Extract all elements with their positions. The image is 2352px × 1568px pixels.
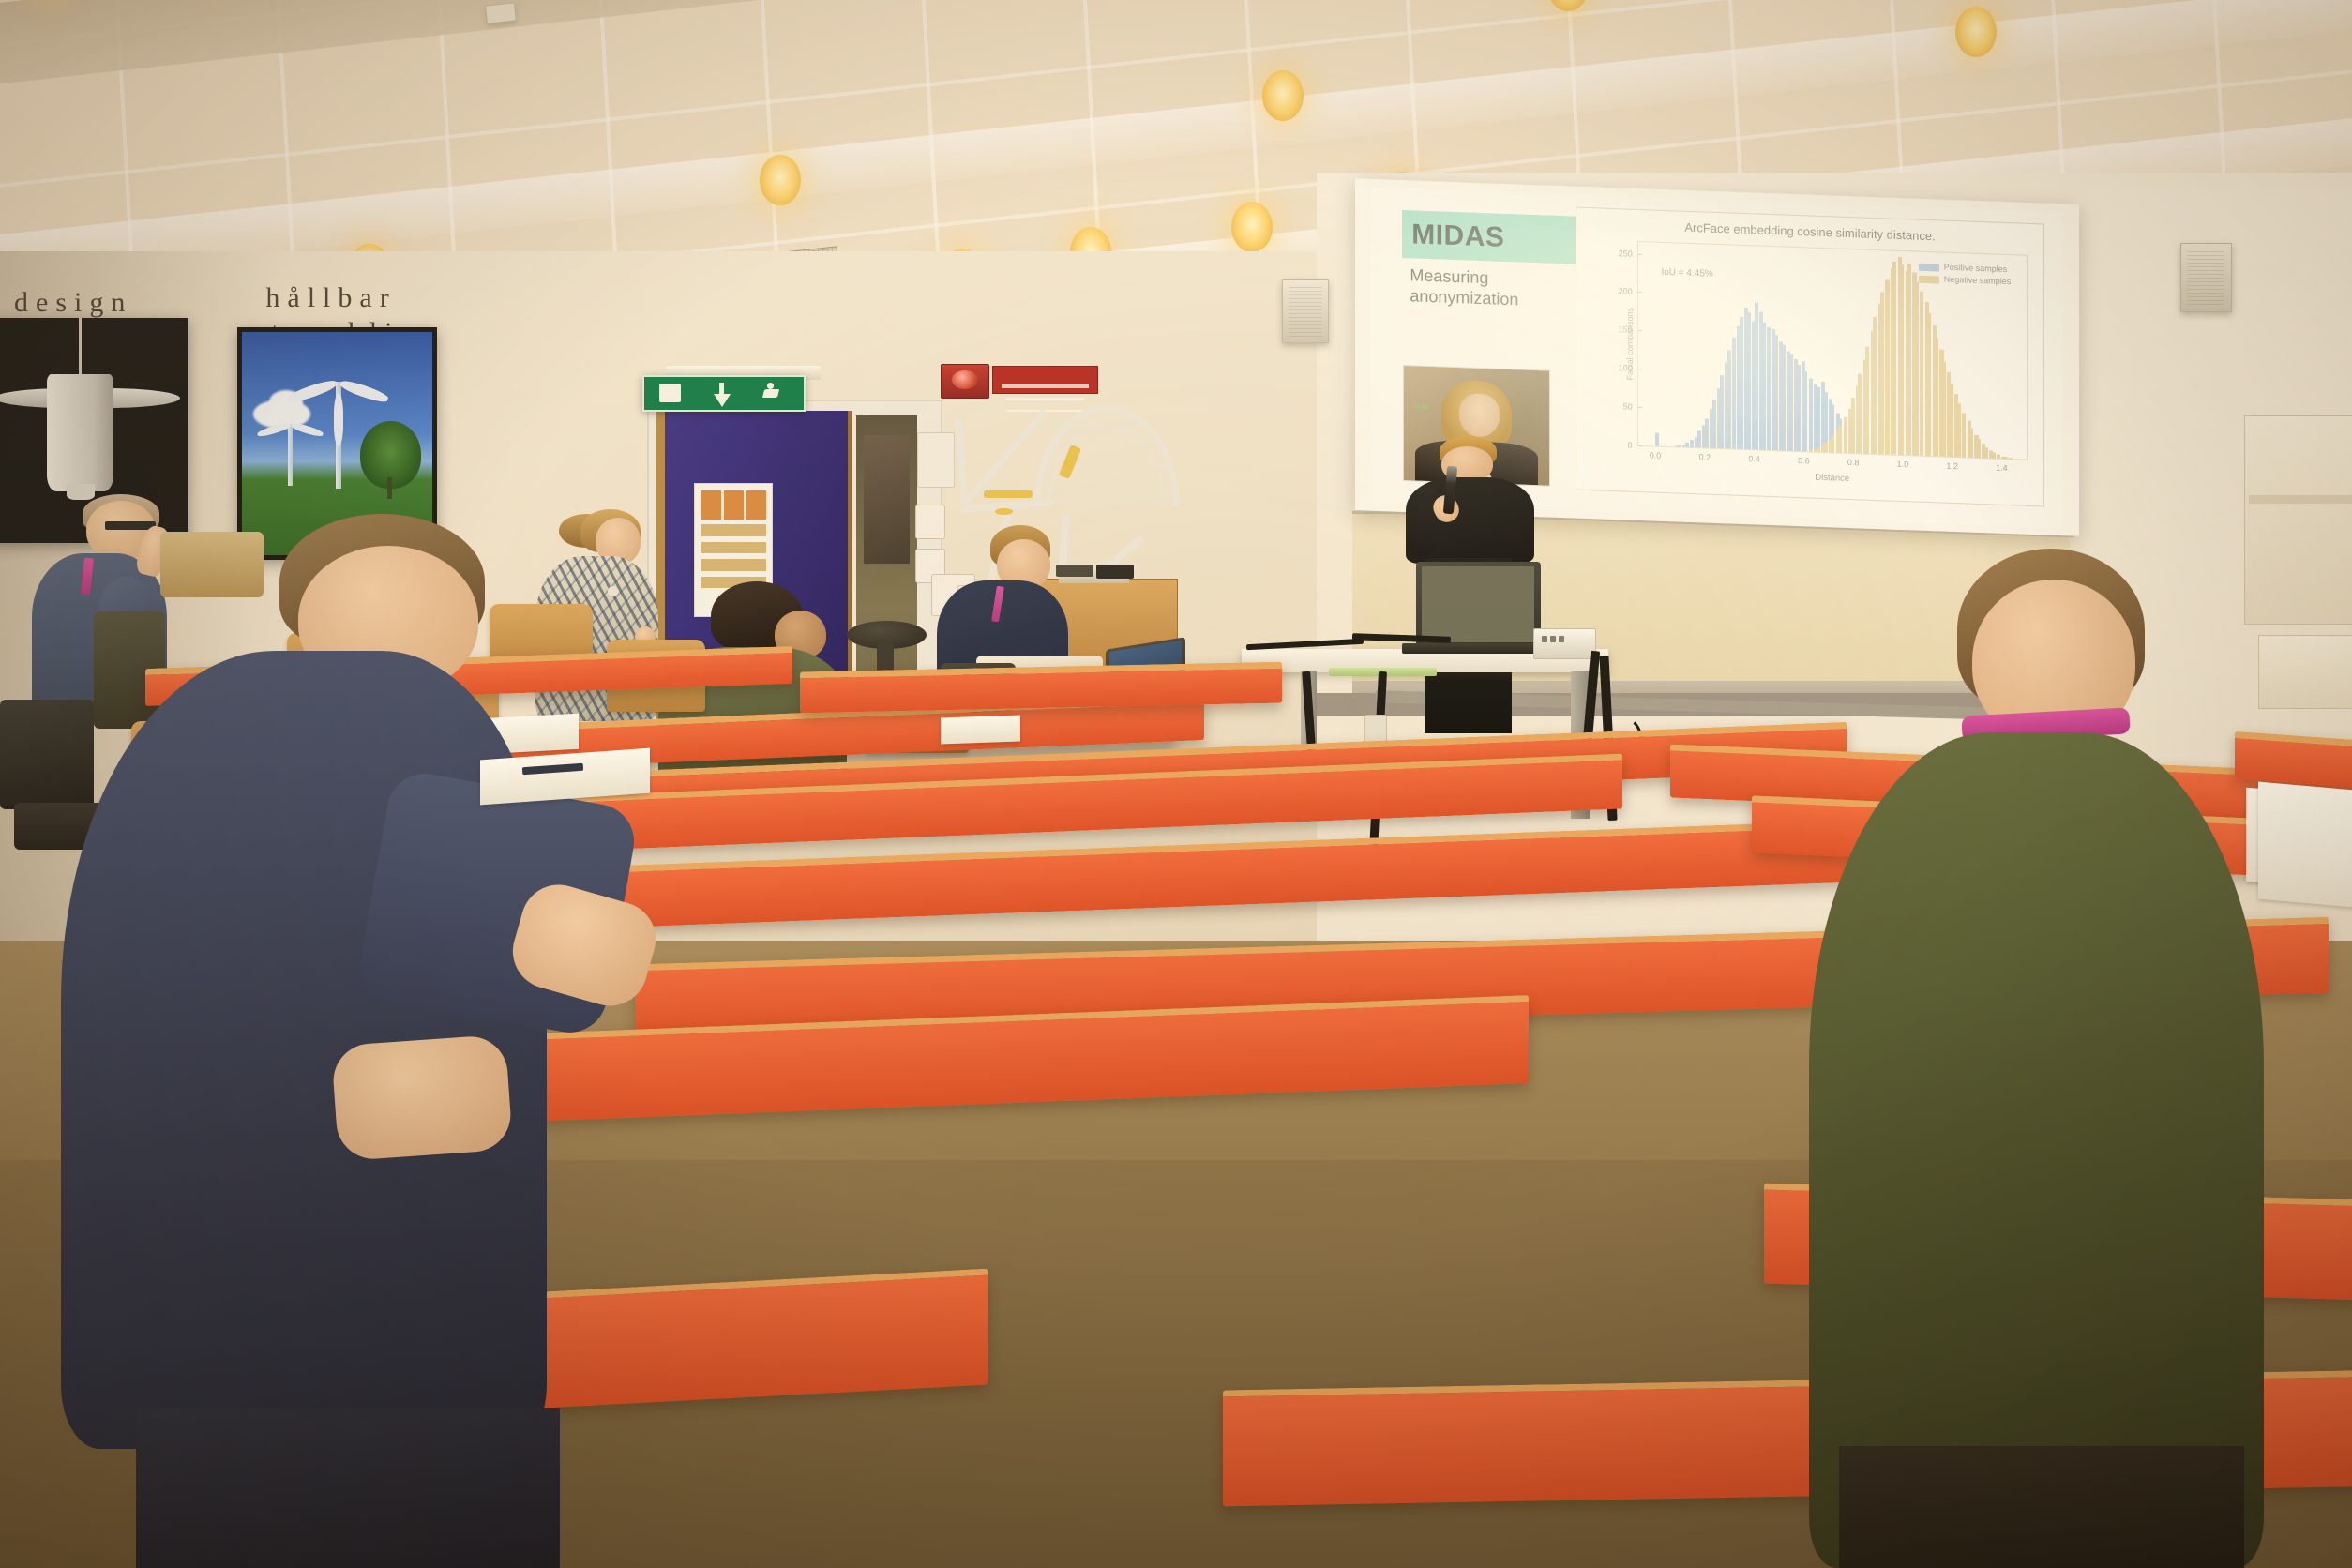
chart-bar — [1816, 447, 1819, 452]
chart-bar — [1831, 435, 1834, 452]
fire-alarm-label — [992, 366, 1097, 394]
chart-bar — [1677, 445, 1681, 447]
chart-annotation-iou: IoU = 4.45% — [1661, 267, 1712, 279]
running-man-icon — [762, 383, 788, 404]
chart-bar — [1773, 335, 1777, 450]
chart-bar — [2009, 458, 2013, 459]
chart-x-tick: 1.2 — [1946, 457, 1958, 471]
chart-bar — [1731, 338, 1735, 449]
slide-title-band: MIDAS — [1402, 210, 1589, 264]
person-torso-fleece — [1809, 732, 2264, 1568]
chart-bar — [1865, 346, 1869, 454]
ceiling-sensor — [485, 3, 517, 24]
chart-bar — [1984, 447, 1988, 459]
lecture-hall-photo: design hållbar utveckling — [0, 0, 2352, 1568]
ceiling-downlight — [1262, 70, 1304, 121]
chart-bar — [1697, 430, 1701, 447]
chart-bar — [1838, 425, 1842, 453]
chart-bar — [1962, 413, 1966, 458]
paper-sheet-right — [2258, 782, 2352, 910]
chart-plot-area: Positive samples Negative samples IoU = … — [1636, 241, 2027, 460]
chart-bar — [1991, 453, 1995, 459]
wall-panel — [917, 432, 955, 488]
chart-bar — [1823, 443, 1827, 452]
chart-bar — [1843, 417, 1847, 453]
face-detection-score: 0.98 — [1415, 404, 1428, 411]
audience-person-foreground-left — [23, 514, 647, 1564]
chart-bar — [1950, 383, 1953, 457]
chart-bar — [1873, 317, 1877, 454]
chart-bar — [1907, 264, 1911, 456]
chart-y-tick: 0 — [1627, 441, 1637, 450]
chart-bar — [1920, 292, 1923, 456]
turbine-blade-small — [291, 421, 324, 438]
chart-bar — [1850, 398, 1854, 453]
chart-y-tick: 100 — [1618, 363, 1637, 373]
chart-bar — [1655, 433, 1659, 446]
chart-bar — [1739, 317, 1742, 449]
exit-door-icon — [659, 384, 680, 402]
chart-bar — [1711, 399, 1715, 447]
chart-bar — [1808, 378, 1812, 452]
chart-bar — [1942, 361, 1946, 457]
person-lower — [1839, 1446, 2244, 1568]
chart-x-axis-label: Distance — [1637, 466, 2026, 490]
chart-bar — [1892, 262, 1896, 455]
chart-bar — [1969, 429, 1973, 458]
chart-x-tick: 0.4 — [1748, 449, 1760, 463]
slide-chart: ArcFace embedding cosine similarity dist… — [1575, 207, 2043, 507]
chart-y-tick: 150 — [1618, 325, 1637, 336]
slide-subtitle: Measuring anonymization — [1410, 264, 1604, 313]
chart-bar — [1746, 313, 1750, 450]
chart-bar — [1766, 327, 1770, 450]
person-hand — [331, 1033, 513, 1161]
protractor-icon — [1033, 405, 1181, 507]
set-square-icon — [955, 414, 1053, 513]
chart-bar — [1927, 313, 1931, 456]
chart-bar — [1781, 345, 1785, 451]
chart-y-tick: 250 — [1618, 249, 1637, 259]
chart-x-tick: 1.0 — [1896, 455, 1908, 469]
ceiling-downlight — [760, 155, 801, 205]
turbine-blade — [334, 393, 343, 446]
chart-x-tick: 0.6 — [1798, 451, 1810, 465]
chart-bar — [1788, 354, 1792, 451]
chart-bar — [1704, 418, 1708, 447]
chart-legend: Positive samples Negative samples — [1918, 261, 2011, 290]
yellow-marker-strip — [984, 490, 1033, 498]
wall-speaker — [2180, 243, 2232, 312]
legend-entry-negative: Negative samples — [1918, 273, 2011, 289]
chart-bar — [1754, 302, 1757, 449]
wall-word-hallbar: hållbar — [265, 282, 396, 314]
paper-sheet — [941, 716, 1020, 745]
chart-bar — [1977, 439, 1981, 458]
person-lap — [136, 1408, 560, 1568]
chart-bar — [1719, 375, 1723, 449]
chart-bar — [1684, 443, 1688, 447]
turbine-mast-small — [288, 424, 293, 486]
chart-bar — [1816, 387, 1819, 452]
chart-bar — [1957, 403, 1961, 457]
chart-bar — [1803, 371, 1807, 451]
chart-bar — [1726, 351, 1730, 449]
turbine-blade — [339, 378, 389, 404]
chart-x-tick: 0.2 — [1698, 447, 1711, 461]
chart-y-tick: 200 — [1618, 287, 1637, 297]
wall-speaker — [1282, 279, 1329, 344]
slide-brand-title: MIDAS — [1402, 219, 1504, 254]
chart-bar — [1915, 282, 1919, 456]
audience-person-foreground-right — [1800, 549, 2294, 1568]
fire-alarm-button[interactable] — [941, 364, 989, 399]
chart-bar — [1885, 279, 1889, 455]
corridor-artwork — [864, 435, 911, 564]
chart-y-tick: 50 — [1622, 402, 1637, 413]
chart-x-tick: 1.4 — [1996, 459, 2008, 473]
ceiling-downlight — [1955, 7, 1997, 57]
wall-word-design: design — [14, 287, 132, 319]
turbine-blade — [286, 378, 339, 405]
av-connection-box[interactable] — [1533, 628, 1596, 658]
presenter-laptop-base — [1402, 643, 1550, 655]
lamp-body-detail — [47, 374, 113, 490]
tree-trunk — [387, 477, 392, 500]
down-arrow-icon — [712, 383, 731, 403]
emergency-exit-sign — [642, 375, 807, 412]
chart-bar — [1935, 338, 1938, 456]
chart-bar — [1796, 365, 1800, 451]
chart-bar — [1690, 440, 1694, 447]
chart-bar — [1900, 264, 1904, 455]
chart-bar — [1761, 323, 1765, 450]
chart-bar — [1880, 292, 1884, 455]
chart-x-tick: 0.8 — [1847, 453, 1859, 467]
ceiling-downlight — [1231, 202, 1273, 252]
chart-bar — [1858, 373, 1862, 453]
chart-x-tick: 0.0 — [1649, 445, 1661, 460]
